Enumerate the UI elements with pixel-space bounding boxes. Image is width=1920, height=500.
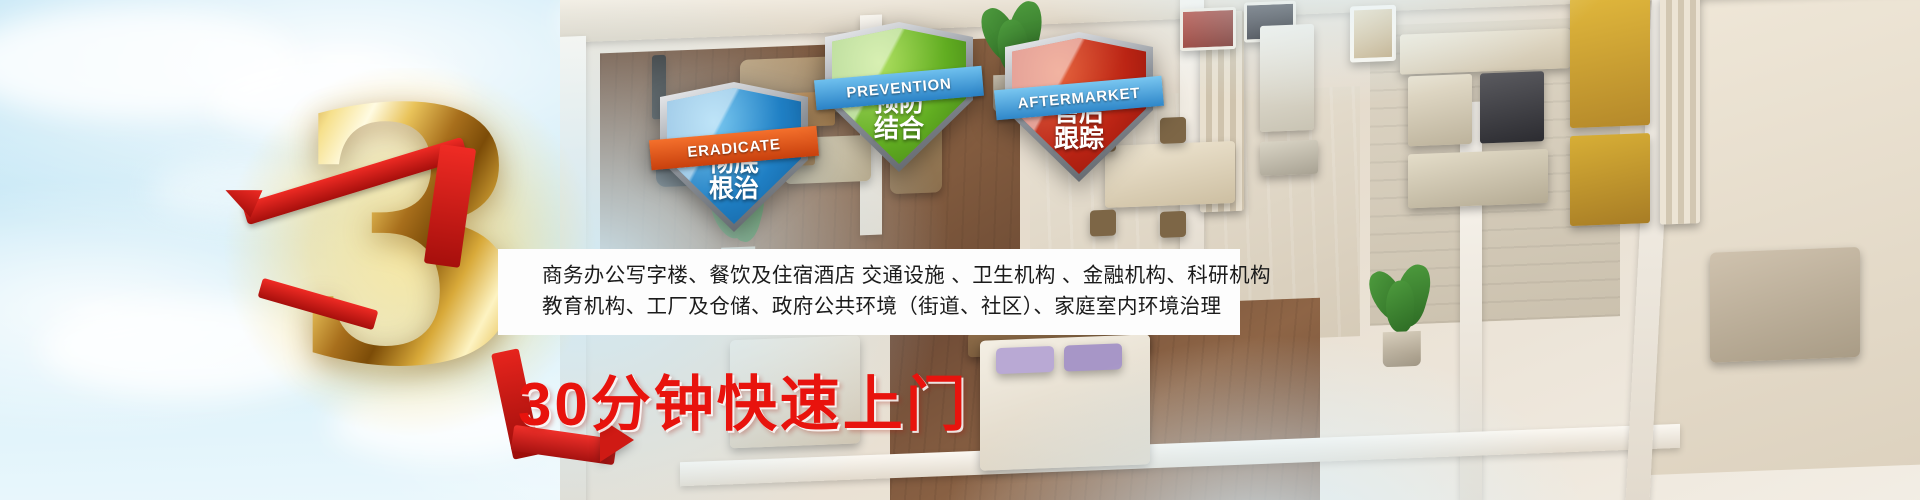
badge-aftermarket: 售后 跟踪 AFTERMARKET — [1005, 32, 1153, 182]
service-scope-line-2: 教育机构、工厂及仓储、政府公共环境（街道、社区）、家庭室内环境治理 — [542, 291, 1240, 322]
badge-sash-label: AFTERMARKET — [1017, 84, 1141, 112]
badge-sash-label: PREVENTION — [846, 75, 953, 101]
promotional-banner: 3 彻底 根治 ERADICATE 预防 结合 PREVENTION — [0, 0, 1920, 500]
badge-eradicate: 彻底 根治 ERADICATE — [660, 82, 808, 232]
headline-text: 30分钟快速上门 — [518, 356, 969, 443]
badge-cn-line2: 结合 — [825, 117, 973, 143]
badge-sash-label: ERADICATE — [687, 135, 782, 160]
service-scope-line-1: 商务办公写字楼、餐饮及住宿酒店 交通设施 、卫生机构 、金融机构、科研机构 — [542, 260, 1240, 291]
service-scope-panel: 商务办公写字楼、餐饮及住宿酒店 交通设施 、卫生机构 、金融机构、科研机构 教育… — [498, 249, 1240, 335]
badge-prevention: 预防 结合 PREVENTION — [825, 22, 973, 172]
badge-cn-line2: 跟踪 — [1005, 127, 1153, 153]
badge-cn-line2: 根治 — [660, 177, 808, 203]
